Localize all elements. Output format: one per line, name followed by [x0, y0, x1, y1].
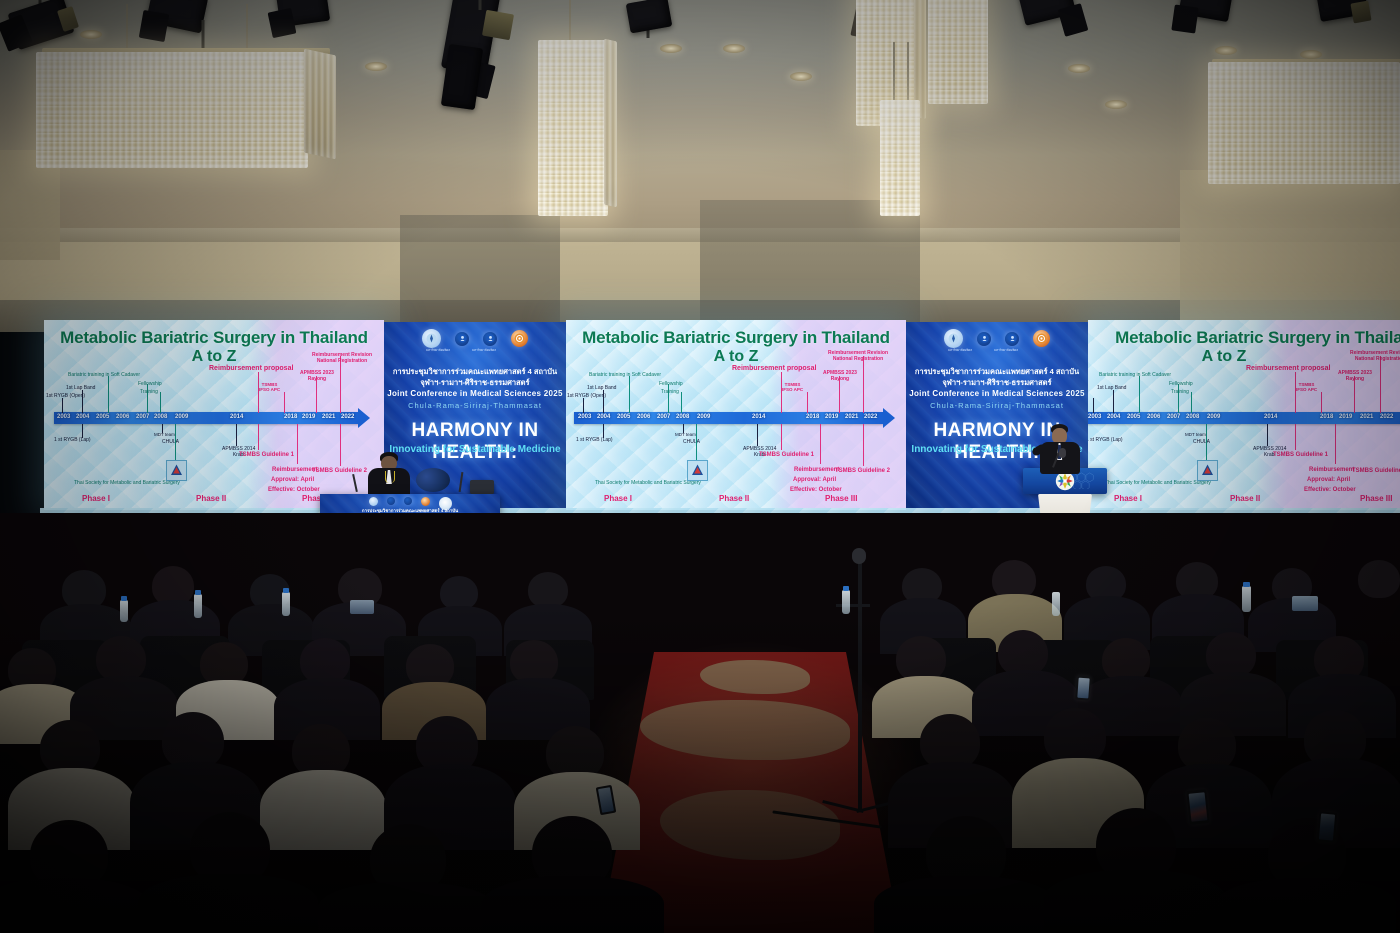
university-logo-mahidol-a	[387, 497, 395, 505]
phone-screen	[1077, 678, 1089, 699]
mahidol-emblem-icon	[980, 334, 989, 343]
audience-head	[440, 576, 478, 610]
audience-shoulders	[1044, 870, 1226, 932]
timeline-tick	[1267, 424, 1268, 446]
timeline-tick	[1191, 392, 1192, 413]
slide-label-above: Reimbursement proposal	[1246, 365, 1330, 372]
bottle-cap	[1243, 582, 1250, 587]
slide-label-below: Thai Society for Metabolic and Bariatric…	[74, 480, 180, 486]
timeline-tick	[1113, 390, 1114, 413]
slide-label-below: TSMBS Guideline 1	[1273, 452, 1328, 458]
slide-label-below: TSMBS Guideline 2	[835, 468, 890, 474]
thammasat-emblem-icon	[1036, 333, 1047, 344]
chandelier-small-left	[538, 40, 616, 220]
slide-label-below: MDT team	[154, 432, 175, 437]
timeline-tick	[863, 424, 864, 466]
slide-title: Metabolic Bariatric Surgery in Thailand	[566, 328, 906, 348]
slide-label-below: Thai Society for Metabolic and Bariatric…	[1105, 480, 1211, 486]
downlight	[723, 44, 745, 53]
axis-year: 2007	[136, 414, 149, 420]
slide-label-above: 1st Lap Band	[1097, 385, 1126, 391]
slide-label-above: Reimbursement RevisionNational Registrat…	[1350, 350, 1400, 362]
chandelier-large-left	[36, 52, 336, 172]
logo-caption-right: มหาวิทยาลัยมหิดล	[994, 348, 1018, 353]
projection-screen-right: Metabolic Bariatric Surgery in Thailand …	[1088, 320, 1400, 510]
slide-phase-label: Phase II	[719, 494, 749, 503]
timeline-tick	[175, 424, 176, 462]
bottle-cap	[121, 596, 127, 601]
branding-institutions: Chula-Rama-Siriraj-Thammasat	[906, 401, 1088, 410]
timeline-tick	[1093, 398, 1094, 413]
slide-label-above: Reimbursement proposal	[209, 365, 293, 372]
bottle-cap	[195, 590, 201, 595]
slide-label-below: Thai Society for Metabolic and Bariatric…	[595, 480, 701, 486]
chulalongkorn-emblem-icon	[948, 333, 959, 344]
axis-year: 2003	[578, 414, 591, 420]
slide-label-below: Effective: October	[1304, 487, 1356, 493]
slide-label-below: Reimbursement	[1309, 467, 1354, 473]
downlight	[1105, 100, 1127, 109]
timeline-tick	[757, 424, 758, 446]
slide-label-above: Fellowship	[659, 381, 683, 387]
axis-year: 2009	[1207, 414, 1220, 420]
axis-year: 2003	[57, 414, 70, 420]
slide-label-below: TSMBS Guideline 1	[239, 452, 294, 458]
university-logo-mahidol-a	[977, 332, 991, 346]
slide-label-below: Effective: October	[268, 487, 320, 493]
bottle-cap	[283, 588, 289, 593]
water-bottle	[120, 600, 128, 622]
tsmbs-society-logo	[166, 460, 187, 481]
tsmbs-emblem-icon	[1200, 463, 1215, 478]
timeline-tick	[340, 356, 341, 413]
university-logo-thammasat	[421, 497, 430, 506]
slide-phase-label: Phase I	[1114, 494, 1142, 503]
projection-screen-center: Metabolic Bariatric Surgery in Thailand …	[566, 320, 906, 510]
conference-hall-photo: Metabolic Bariatric Surgery in Thailand …	[0, 0, 1400, 933]
slide-label-below: CHULA	[162, 439, 179, 445]
moderator-lanyard	[385, 471, 395, 483]
mahidol-emblem-icon	[458, 334, 467, 343]
slide-label-above: APMBSS 2023Rayong	[823, 371, 857, 383]
wall-right-column	[1180, 170, 1400, 330]
axis-year: 2014	[1264, 414, 1277, 420]
axis-year: 2018	[806, 414, 819, 420]
slide-label-above: Reimbursement RevisionNational Registrat…	[828, 350, 888, 362]
mahidol-emblem-icon	[486, 334, 495, 343]
axis-year: 2014	[752, 414, 765, 420]
aisle-microphone-stand	[858, 556, 862, 812]
branding-thai-line2: จุฬาฯ-รามาฯ-ศิริราช-ธรรมศาสตร์	[384, 377, 566, 389]
timeline-tick	[1380, 356, 1381, 413]
slide-label-below: MDT team	[675, 432, 696, 437]
timeline-tick	[258, 372, 259, 413]
slide-title: Metabolic Bariatric Surgery in Thailand	[44, 328, 384, 348]
slide-phase-label: Phase III	[1360, 494, 1392, 503]
timeline-tick	[807, 392, 808, 413]
slide-label-above: TSMBSIFSO APC	[1296, 382, 1317, 392]
university-logo-chulalongkorn	[369, 497, 378, 506]
slide-label-below: TSMBS Guideline 1	[759, 452, 814, 458]
audience-shoulders	[138, 874, 318, 933]
slide-label-above: 1st RYGB (Open)	[567, 393, 606, 399]
timeline-tick	[236, 424, 237, 446]
slide-center: Metabolic Bariatric Surgery in Thailand …	[566, 320, 906, 510]
branding-institutions: Chula-Rama-Siriraj-Thammasat	[384, 401, 566, 410]
tsmbs-society-logo	[687, 460, 708, 481]
water-bottle	[1242, 586, 1251, 612]
table-flower-arrangement	[416, 468, 450, 492]
axis-year: 2006	[1147, 414, 1160, 420]
slide-label-above: Bariatric training in Soft Cadaver	[589, 372, 661, 378]
slide-label-below: Approval: April	[271, 477, 314, 483]
slide-label-below: Reimbursement	[794, 467, 839, 473]
timeline-tick	[696, 424, 697, 462]
slide-label-above: APMBSS 2023Rayong	[300, 371, 334, 383]
slide-label-below: Effective: October	[790, 487, 842, 493]
aisle-microphone-head	[852, 548, 866, 564]
chandelier-slim-left-far	[880, 100, 924, 220]
timeline-tick	[1206, 424, 1207, 462]
table-laptop	[470, 480, 494, 494]
axis-year: 2014	[230, 414, 243, 420]
slide-label-above: Training	[661, 389, 679, 395]
timeline-tick	[820, 424, 821, 464]
slide-label-below: CHULA	[683, 439, 700, 445]
audience-tablet-glow	[1292, 596, 1318, 611]
slide-label-above: TSMBSIFSO APC	[259, 382, 280, 392]
timeline-tick	[258, 424, 259, 450]
timeline-tick	[603, 424, 604, 438]
phone-screen	[598, 787, 614, 813]
moderator	[366, 452, 412, 494]
timeline-tick	[1295, 424, 1296, 450]
downlight	[80, 30, 102, 39]
axis-year: 2021	[845, 414, 858, 420]
slide-label-above: Training	[1171, 389, 1189, 395]
axis-year: 2019	[1339, 414, 1352, 420]
timeline-tick	[1321, 392, 1322, 413]
downlight	[790, 72, 812, 81]
timeline-tick	[284, 392, 285, 413]
slide-label-above: TSMBSIFSO APC	[782, 382, 803, 392]
slide-label-below: 1 st RYGB (Lap)	[576, 437, 613, 443]
axis-year: 2004	[1107, 414, 1120, 420]
slide-right: Metabolic Bariatric Surgery in Thailand …	[1088, 320, 1400, 510]
axis-year: 2019	[825, 414, 838, 420]
axis-year: 2003	[1088, 414, 1101, 420]
audience-head	[1358, 560, 1400, 598]
audience-shoulders	[874, 876, 1056, 933]
timeline-tick	[160, 392, 161, 413]
slide-label-above: Fellowship	[1169, 381, 1193, 387]
audience-phone	[1075, 676, 1091, 701]
chulalongkorn-emblem-icon	[426, 333, 437, 344]
water-bottle	[1052, 592, 1060, 616]
timeline-tick	[1139, 376, 1140, 413]
downlight	[1300, 50, 1322, 59]
timeline-tick	[781, 424, 782, 450]
timeline-tick	[863, 356, 864, 413]
university-logo-chulalongkorn	[944, 329, 963, 348]
timeline-tick	[681, 392, 682, 413]
slide-label-below: 1 st RYGB (Lap)	[54, 437, 91, 443]
chandelier-large-right	[1208, 62, 1400, 190]
slide-label-above: Training	[140, 389, 158, 395]
university-logo-mahidol-a	[455, 332, 469, 346]
university-logo-thammasat	[511, 330, 528, 347]
slide-label-below: Approval: April	[793, 477, 836, 483]
axis-year: 2022	[341, 414, 354, 420]
university-logo-thammasat	[1033, 330, 1050, 347]
audience-head	[528, 572, 568, 608]
audience-phone	[1186, 789, 1209, 825]
phone-screen	[1319, 813, 1335, 840]
slide-label-below: Reimbursement	[272, 467, 317, 473]
branding-english-title: Joint Conference in Medical Sciences 202…	[384, 389, 566, 398]
slide-subtitle: A to Z	[1088, 348, 1360, 366]
wall-pillar-dark-left	[400, 215, 560, 335]
axis-year: 2022	[864, 414, 877, 420]
timeline-tick	[629, 376, 630, 413]
timeline-tick	[162, 424, 163, 433]
audience-shoulders	[0, 878, 150, 933]
audience-shoulders	[1216, 878, 1396, 933]
axis-year: 2004	[597, 414, 610, 420]
logo-caption-left: มหาวิทยาลัยมหิดล	[948, 348, 972, 353]
axis-year: 2007	[657, 414, 670, 420]
axis-year: 2006	[116, 414, 129, 420]
axis-year: 2008	[154, 414, 167, 420]
timeline-tick	[1335, 424, 1336, 464]
audience-shoulders	[482, 876, 664, 933]
slide-label-below: CHULA	[1193, 439, 1210, 445]
branding-english-title: Joint Conference in Medical Sciences 202…	[906, 389, 1088, 398]
slide-label-above: 1st Lap Band	[66, 385, 95, 391]
slide-label-above: APMBSS 2023Rayong	[1338, 371, 1372, 383]
institution-logos	[384, 329, 566, 348]
audience-row-nearest-left	[0, 790, 640, 933]
timeline-tick	[583, 398, 584, 413]
axis-year: 2018	[284, 414, 297, 420]
slide-label-above: Bariatric training in Soft Cadaver	[68, 372, 140, 378]
tsmbs-society-logo	[1197, 460, 1218, 481]
timeline-tick	[683, 424, 684, 433]
wall-pillar-dark-center	[700, 200, 920, 335]
logo-caption-left: มหาวิทยาลัยมหิดล	[426, 348, 450, 353]
axis-year: 2019	[302, 414, 315, 420]
speaker-at-podium	[1018, 424, 1098, 478]
slide-phase-label: Phase I	[82, 494, 110, 503]
axis-year: 2005	[617, 414, 630, 420]
logo-caption-right: มหาวิทยาลัยมหิดล	[472, 348, 496, 353]
branding-thai-line2: จุฬาฯ-รามาฯ-ศิริราช-ธรรมศาสตร์	[906, 377, 1088, 389]
timeline-tick	[297, 424, 298, 464]
slide-phase-label: Phase II	[196, 494, 226, 503]
downlight	[365, 62, 387, 71]
axis-year: 2009	[175, 414, 188, 420]
mahidol-emblem-icon	[1008, 334, 1017, 343]
axis-year: 2005	[1127, 414, 1140, 420]
chandelier-medium-top-right	[928, 0, 994, 108]
slide-label-above: Bariatric training in Soft Cadaver	[1099, 372, 1171, 378]
bottle-cap	[843, 586, 849, 591]
downlight	[1068, 64, 1090, 73]
timeline-tick	[781, 372, 782, 413]
audience-laptop-glow	[350, 600, 374, 614]
slide-phase-label: Phase I	[604, 494, 632, 503]
axis-year: 2021	[322, 414, 335, 420]
axis-year: 2006	[637, 414, 650, 420]
axis-year: 2009	[697, 414, 710, 420]
downlight	[1215, 46, 1237, 55]
slide-label-above: 1st Lap Band	[587, 385, 616, 391]
timeline-tick	[108, 376, 109, 413]
slide-label-below: MDT team	[1185, 432, 1206, 437]
slide-label-above: Reimbursement RevisionNational Registrat…	[312, 352, 372, 364]
university-logo-mahidol-b	[1005, 332, 1019, 346]
institution-logos	[906, 329, 1088, 348]
audience-phone	[1317, 811, 1338, 842]
tsmbs-emblem-icon	[690, 463, 705, 478]
slide-label-above: Reimbursement proposal	[732, 365, 816, 372]
tsmbs-emblem-icon	[169, 463, 184, 478]
water-bottle	[194, 594, 202, 618]
slide-label-below: Approval: April	[1307, 477, 1350, 483]
slide-title: Metabolic Bariatric Surgery in Thailand	[1098, 328, 1400, 348]
university-logo-chulalongkorn	[422, 329, 441, 348]
axis-year: 2021	[1360, 414, 1373, 420]
slide-phase-label: Phase II	[1230, 494, 1260, 503]
audience-row-nearest-right	[900, 784, 1400, 933]
slide-label-above: 1st RYGB (Open)	[46, 393, 85, 399]
phone-screen	[1189, 792, 1208, 822]
audience-shoulders	[318, 882, 496, 933]
thammasat-emblem-icon	[514, 333, 525, 344]
axis-year: 2005	[96, 414, 109, 420]
slide-label-above: Fellowship	[138, 381, 162, 387]
downlight	[660, 44, 682, 53]
timeline-tick	[62, 398, 63, 413]
university-logo-mahidol-b	[483, 332, 497, 346]
axis-year: 2004	[76, 414, 89, 420]
water-bottle	[282, 592, 290, 616]
slide-label-below: TSMBS Guideline 2	[1352, 468, 1400, 474]
timeline-tick	[82, 424, 83, 438]
axis-year: 2008	[1186, 414, 1199, 420]
water-bottle	[842, 590, 850, 614]
axis-year: 2018	[1320, 414, 1333, 420]
university-logo-mahidol-b	[404, 497, 412, 505]
timeline-tick	[1295, 372, 1296, 413]
slide-phase-label: Phase III	[825, 494, 857, 503]
axis-year: 2008	[676, 414, 689, 420]
axis-year: 2007	[1167, 414, 1180, 420]
axis-year: 2022	[1380, 414, 1393, 420]
